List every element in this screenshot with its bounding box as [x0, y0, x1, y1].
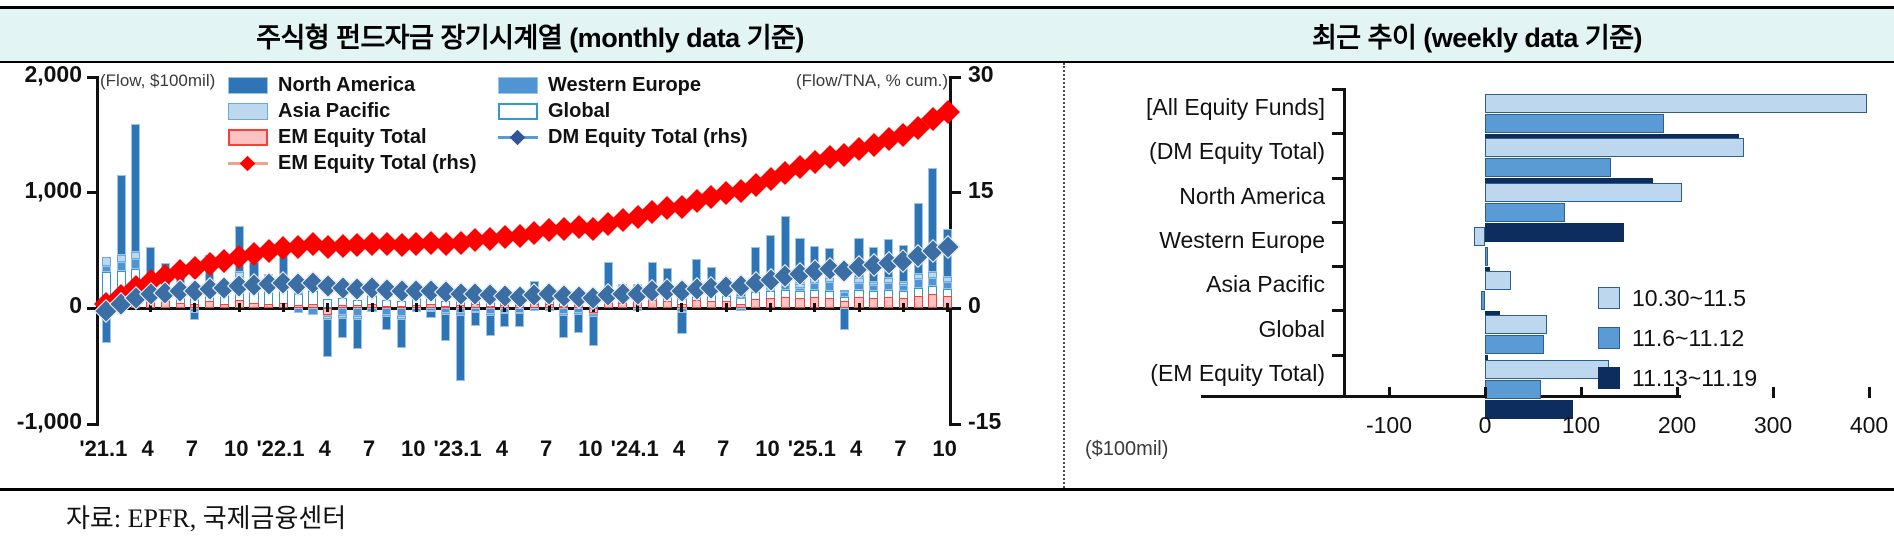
bar-group — [574, 77, 583, 424]
x-axis-tick — [725, 303, 728, 312]
category-label: (DM Equity Total) — [1149, 138, 1325, 165]
legend-item-week-2[interactable]: 11.6~11.12 — [1598, 318, 1757, 358]
x-axis-tick — [858, 303, 861, 312]
bar-group — [589, 77, 598, 424]
em-equity-total-segment — [825, 298, 834, 308]
footer-rule — [0, 488, 1894, 491]
x-axis-tick — [193, 303, 196, 312]
x-axis-tick — [680, 303, 683, 312]
bar-group — [618, 77, 627, 424]
western-europe-segment — [397, 308, 406, 316]
em-equity-total-segment — [205, 301, 214, 308]
bar-group — [604, 77, 613, 424]
western-europe-segment — [810, 283, 819, 290]
em-equity-total-segment — [840, 301, 849, 308]
bar-group — [722, 77, 731, 424]
em-equity-total-segment — [795, 298, 804, 308]
asia-pacific-segment — [884, 278, 893, 283]
y-axis-tick-label-left: 1,000 — [24, 177, 82, 204]
north-america-segment — [190, 312, 199, 320]
western-europe-segment — [854, 283, 863, 290]
value-axis-tick — [1772, 387, 1775, 398]
western-europe-segment — [102, 266, 111, 273]
category-axis-tick — [1332, 354, 1343, 357]
bar-group — [515, 77, 524, 424]
legend-swatch-week-2 — [1598, 327, 1620, 349]
western-europe-segment — [825, 282, 834, 291]
bar-group — [766, 77, 775, 424]
category-axis-tick — [1332, 265, 1343, 268]
em-equity-total-segment — [426, 304, 435, 309]
horizontal-bar — [1485, 114, 1664, 133]
north-america-segment — [338, 318, 347, 339]
asia-pacific-segment — [131, 252, 140, 259]
category-axis-tick — [1332, 88, 1343, 91]
panel-divider — [1063, 63, 1065, 488]
x-axis-tick-label: 10 — [905, 436, 985, 462]
category-label: North America — [1179, 183, 1325, 210]
legend-swatch-week-1 — [1598, 287, 1620, 309]
x-axis-tick — [415, 303, 418, 312]
em-equity-total-segment — [397, 306, 406, 308]
western-europe-segment — [117, 262, 126, 271]
em-equity-total-segment — [382, 306, 391, 308]
western-europe-segment — [884, 283, 893, 290]
em-equity-total-segment — [308, 304, 317, 309]
category-axis-tick — [1332, 309, 1343, 312]
x-axis-tick — [371, 303, 374, 312]
legend-label-week-2: 11.6~11.12 — [1632, 325, 1744, 352]
north-america-segment — [441, 314, 450, 341]
horizontal-bar — [1485, 183, 1682, 202]
asia-pacific-segment — [914, 274, 923, 280]
bar-group — [869, 77, 878, 424]
em-equity-total-segment — [663, 301, 672, 308]
north-america-segment — [353, 319, 362, 349]
x-axis-tick — [902, 303, 905, 312]
western-europe-segment — [131, 259, 140, 269]
em-equity-total-segment — [264, 304, 273, 309]
bar-group — [633, 77, 642, 424]
western-europe-segment — [353, 308, 362, 316]
x-axis-tick — [769, 303, 772, 312]
western-europe-segment — [530, 308, 539, 310]
horizontal-bar — [1485, 158, 1611, 177]
north-america-segment — [840, 308, 849, 330]
asia-pacific-segment — [899, 282, 908, 285]
horizontal-bar — [1474, 227, 1485, 246]
value-axis-tick-label: 200 — [1632, 412, 1722, 439]
em-equity-total-segment — [338, 305, 347, 308]
x-axis-tick — [946, 303, 949, 312]
bar-group — [825, 77, 834, 424]
right-value-axis — [1343, 88, 1346, 398]
bar-group — [176, 77, 185, 424]
north-america-segment — [677, 312, 686, 334]
north-america-segment — [589, 316, 598, 346]
category-axis-tick — [1332, 132, 1343, 135]
y-axis-tick-label-left: -1,000 — [17, 408, 82, 435]
y-axis-tick-label-left: 0 — [69, 292, 82, 319]
bar-group — [854, 77, 863, 424]
category-label: Western Europe — [1159, 227, 1325, 254]
bar-group — [692, 77, 701, 424]
asia-pacific-segment — [869, 282, 878, 285]
horizontal-bar — [1485, 271, 1511, 290]
value-axis-tick-label: 0 — [1440, 412, 1530, 439]
y-axis-tick-label-right: 30 — [968, 61, 994, 88]
bar-group — [545, 77, 554, 424]
value-axis-tick — [1484, 387, 1487, 398]
em-equity-total-segment — [884, 297, 893, 309]
north-america-segment — [426, 311, 435, 318]
right-chart-unit-label: ($100mil) — [1085, 438, 1168, 461]
em-equity-total-segment — [914, 296, 923, 309]
em-equity-total-segment — [353, 305, 362, 308]
western-europe-segment — [795, 288, 804, 291]
value-axis-tick — [1388, 387, 1391, 398]
western-europe-segment — [338, 308, 347, 315]
axis-tick — [87, 76, 99, 79]
left-plot-area — [96, 77, 952, 424]
y-axis-tick-label-right: 15 — [968, 177, 994, 204]
em-equity-total-segment — [928, 294, 937, 308]
em-equity-total-segment — [751, 299, 760, 308]
bar-group — [840, 77, 849, 424]
y-axis-tick-label-right: 0 — [968, 292, 981, 319]
right-panel-title: 최근 추이 (weekly data 기준) — [1060, 11, 1894, 59]
north-america-segment — [515, 313, 524, 327]
bar-group — [146, 77, 155, 424]
north-america-segment — [471, 312, 480, 326]
category-label: Asia Pacific — [1206, 271, 1325, 298]
bar-group — [663, 77, 672, 424]
legend-swatch-week-3 — [1598, 367, 1620, 389]
asia-pacific-segment — [943, 277, 952, 282]
north-america-segment — [486, 315, 495, 336]
western-europe-segment — [294, 308, 303, 313]
horizontal-bar — [1485, 360, 1609, 379]
em-equity-total-segment — [220, 304, 229, 309]
em-equity-total-segment — [692, 300, 701, 308]
horizontal-bar — [1485, 380, 1541, 399]
category-label: Global — [1259, 316, 1325, 343]
em-equity-total-segment — [441, 306, 450, 308]
em-equity-total-segment — [176, 303, 185, 309]
horizontal-bar — [1485, 315, 1547, 334]
legend-label-week-3: 11.13~11.19 — [1632, 365, 1757, 392]
north-america-segment — [500, 313, 509, 327]
western-europe-segment — [899, 285, 908, 291]
x-axis-tick — [326, 303, 329, 312]
x-axis-tick — [813, 303, 816, 312]
western-europe-segment — [308, 308, 317, 315]
em-equity-total-segment — [707, 301, 716, 308]
bar-group — [677, 77, 686, 424]
western-europe-segment — [928, 278, 937, 286]
figure-root: 주식형 펀드자금 장기시계열 (monthly data 기준) 최근 추이 (… — [0, 0, 1894, 556]
bar-group — [500, 77, 509, 424]
legend-label-week-1: 10.30~11.5 — [1632, 285, 1746, 312]
bar-group — [810, 77, 819, 424]
x-axis-tick — [282, 303, 285, 312]
western-europe-segment — [943, 282, 952, 289]
legend-item-week-1[interactable]: 10.30~11.5 — [1598, 278, 1757, 318]
bar-group — [102, 77, 111, 424]
north-america-segment — [131, 124, 140, 251]
category-axis-tick — [1332, 177, 1343, 180]
em-equity-total-segment — [249, 303, 258, 309]
western-europe-segment — [840, 292, 849, 297]
value-axis-tick-label: 400 — [1824, 412, 1894, 439]
bar-group — [530, 77, 539, 424]
value-axis-tick-label: 300 — [1728, 412, 1818, 439]
bar-group — [751, 77, 760, 424]
right-chart-legend: 10.30~11.5 11.6~11.12 11.13~11.19 — [1598, 278, 1757, 398]
north-america-segment — [117, 175, 126, 255]
bar-group — [161, 77, 170, 424]
north-america-segment — [323, 319, 332, 357]
value-axis-tick-label: -100 — [1344, 412, 1434, 439]
horizontal-bar — [1485, 247, 1488, 266]
category-label: [All Equity Funds] — [1146, 94, 1325, 121]
bar-group — [781, 77, 790, 424]
left-chart-panel: (Flow, $100mil) (Flow/TNA, % cum.) North… — [0, 63, 1060, 488]
asia-pacific-segment — [102, 257, 111, 265]
source-note: 자료: EPFR, 국제금융센터 — [66, 498, 346, 535]
em-equity-total-segment — [781, 297, 790, 309]
north-america-segment — [456, 315, 465, 381]
horizontal-bar — [1481, 291, 1485, 310]
em-equity-total-segment — [869, 298, 878, 308]
horizontal-bar — [1485, 138, 1744, 157]
horizontal-bar — [1485, 203, 1565, 222]
value-axis-tick — [1580, 387, 1583, 398]
y-axis-tick-label-left: 2,000 — [24, 61, 82, 88]
asia-pacific-segment — [117, 255, 126, 262]
asia-pacific-segment — [928, 272, 937, 278]
western-europe-segment — [869, 285, 878, 291]
bar-group — [205, 77, 214, 424]
bar-group — [131, 77, 140, 424]
value-axis-tick — [1868, 387, 1871, 398]
legend-item-week-3[interactable]: 11.13~11.19 — [1598, 358, 1757, 398]
bar-group — [559, 77, 568, 424]
bar-group — [795, 77, 804, 424]
western-europe-segment — [382, 308, 391, 315]
category-label: (EM Equity Total) — [1150, 360, 1325, 387]
western-europe-segment — [736, 308, 745, 310]
em-equity-total-segment — [294, 305, 303, 308]
axis-tick — [87, 191, 99, 194]
north-america-segment — [559, 315, 568, 338]
value-axis-tick-label: 100 — [1536, 412, 1626, 439]
bar-group — [117, 77, 126, 424]
north-america-segment — [574, 314, 583, 333]
bar-group — [707, 77, 716, 424]
x-axis-tick — [238, 303, 241, 312]
bar-group — [190, 77, 199, 424]
asia-pacific-segment — [840, 290, 849, 292]
y-axis-tick-label-right: -15 — [968, 408, 1001, 435]
horizontal-bar — [1485, 223, 1624, 242]
horizontal-bar — [1485, 335, 1544, 354]
axis-tick — [87, 423, 99, 426]
bar-group — [736, 77, 745, 424]
north-america-segment — [397, 319, 406, 348]
em-equity-total-segment — [736, 304, 745, 309]
category-axis-tick — [1332, 221, 1343, 224]
left-panel-title: 주식형 펀드자금 장기시계열 (monthly data 기준) — [0, 11, 1060, 59]
north-america-segment — [382, 316, 391, 330]
western-europe-segment — [914, 279, 923, 287]
bar-group — [648, 77, 657, 424]
horizontal-bar — [1485, 94, 1867, 113]
